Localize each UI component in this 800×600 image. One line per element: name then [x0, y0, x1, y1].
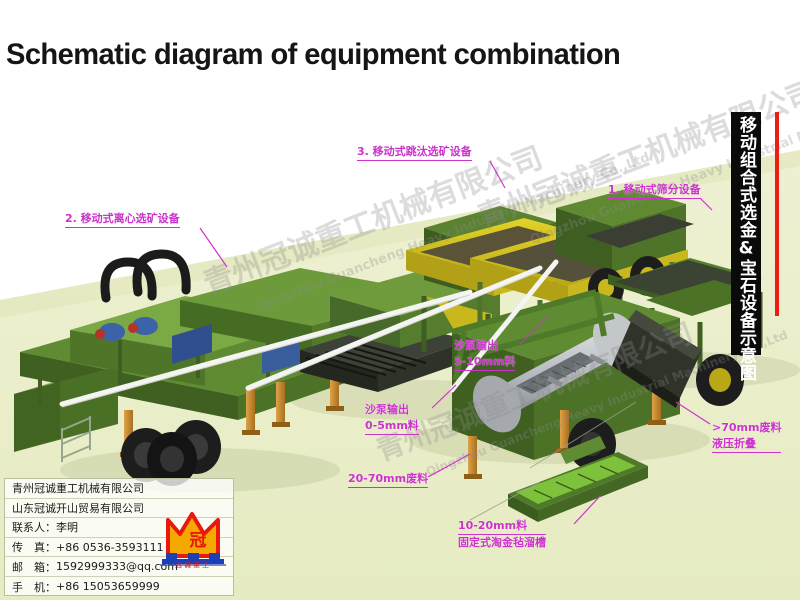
info-row: 青州冠诚重工机械有限公司	[5, 479, 233, 499]
page-title: Schematic diagram of equipment combinati…	[6, 38, 620, 72]
info-row-mobile: 手 机： +86 15053659999	[5, 577, 233, 597]
callout-line: 2. 移动式离心选矿设备	[65, 211, 180, 228]
contact-label: 联系人：	[12, 519, 56, 535]
company-name-2: 山东冠诚开山贸易有限公司	[12, 500, 144, 516]
vertical-banner-text: 移动组合式选金&宝石设备示意图	[731, 116, 761, 382]
callout-line: 10-20mm料	[458, 518, 546, 535]
callout-line: 20-70mm废料	[348, 471, 428, 488]
callout-line: 3. 移动式跳汰选矿设备	[357, 144, 472, 161]
callout-sand-pump-5-10: 沙泵输出 5-10mm料	[454, 338, 515, 371]
callout-waste-over-70: >70mm废料 液压折叠	[712, 420, 781, 453]
callout-line: 0-5mm料	[365, 418, 419, 435]
callout-equip-1: 1. 移动式筛分设备	[608, 182, 701, 199]
callout-line: 沙泵输出	[454, 338, 515, 354]
vertical-banner: 移动组合式选金&宝石设备示意图	[731, 112, 761, 355]
callout-equip-3: 3. 移动式跳汰选矿设备	[357, 144, 472, 161]
mobile-value: +86 15053659999	[56, 580, 160, 593]
logo-mark: 冠	[190, 531, 207, 551]
fax-value: +86 0536-3593111	[56, 541, 164, 554]
callout-line: >70mm废料	[712, 420, 781, 436]
mobile-label: 手 机：	[12, 579, 56, 595]
callout-line: 沙泵输出	[365, 402, 419, 418]
company-name-1: 青州冠诚重工机械有限公司	[12, 480, 144, 496]
contact-value: 李明	[56, 519, 78, 535]
callout-line: 5-10mm料	[454, 354, 515, 371]
logo-caption: 冠诚重工	[157, 560, 229, 570]
callout-line: 1. 移动式筛分设备	[608, 182, 701, 199]
callout-sand-pump-0-5: 沙泵输出 0-5mm料	[365, 402, 419, 435]
company-logo: 冠 冠诚重工	[157, 506, 229, 570]
callout-sluice-10-20: 10-20mm料 固定式淘金毡溜槽	[458, 518, 546, 551]
email-label: 邮 箱：	[12, 559, 56, 575]
schematic-diagram-canvas: 青州冠诚重工机械有限公司 Qingzhou Guancheng Heavy In…	[0, 0, 800, 600]
callout-line: 液压折叠	[712, 436, 781, 453]
vertical-accent-bar	[775, 112, 779, 316]
callout-waste-20-70: 20-70mm废料	[348, 471, 428, 488]
callout-equip-2: 2. 移动式离心选矿设备	[65, 211, 180, 228]
fax-label: 传 真：	[12, 539, 56, 555]
callout-line: 固定式淘金毡溜槽	[458, 535, 546, 551]
